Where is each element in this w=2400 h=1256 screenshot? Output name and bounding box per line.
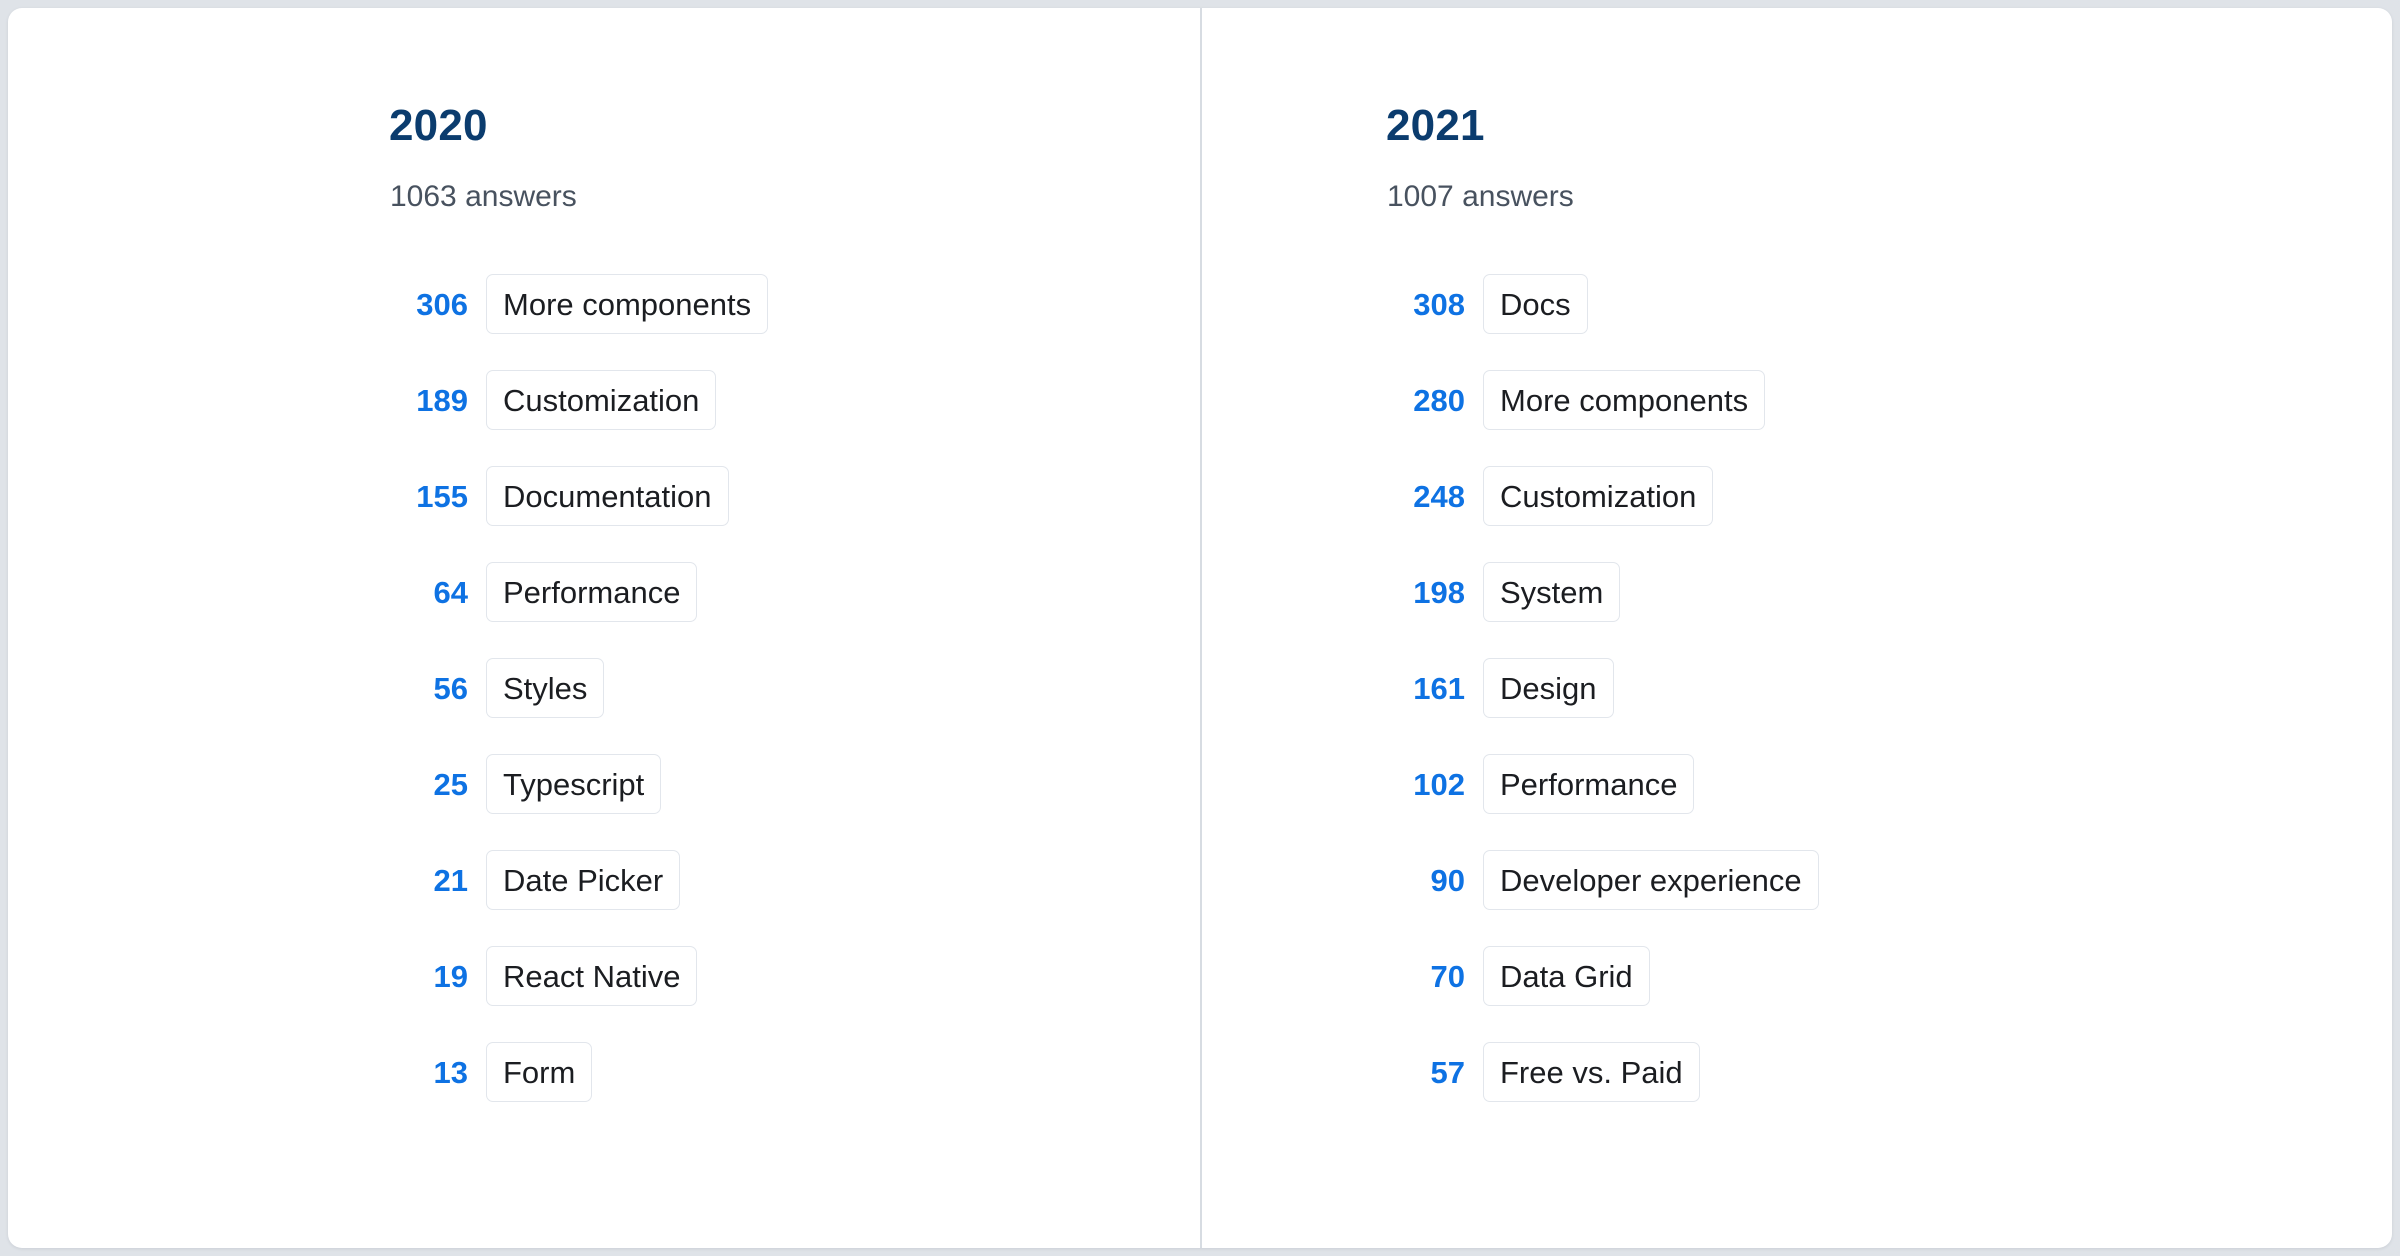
result-count: 306 [390,289,468,320]
result-row[interactable]: 90 Developer experience [1387,832,2392,928]
result-row[interactable]: 155 Documentation [390,448,1200,544]
result-label-tag[interactable]: Typescript [486,754,661,814]
result-count: 189 [390,385,468,416]
result-label-tag[interactable]: Design [1483,658,1614,718]
result-row[interactable]: 70 Data Grid [1387,928,2392,1024]
result-row[interactable]: 21 Date Picker [390,832,1200,928]
result-count: 90 [1387,865,1465,896]
year-heading-2020: 2020 [389,104,1200,148]
year-column-2021: 2021 1007 answers 308 Docs 280 More comp… [1200,8,2392,1248]
result-label-tag[interactable]: Form [486,1042,592,1102]
result-row[interactable]: 13 Form [390,1024,1200,1120]
result-label-tag[interactable]: System [1483,562,1620,622]
result-label-tag[interactable]: Documentation [486,466,729,526]
result-row[interactable]: 57 Free vs. Paid [1387,1024,2392,1120]
result-label-tag[interactable]: React Native [486,946,697,1006]
year-heading-2021: 2021 [1386,104,2392,148]
result-row[interactable]: 198 System [1387,544,2392,640]
result-count: 57 [1387,1057,1465,1088]
result-row[interactable]: 308 Docs [1387,256,2392,352]
year-column-2020: 2020 1063 answers 306 More components 18… [8,8,1200,1248]
result-label-tag[interactable]: Developer experience [1483,850,1819,910]
result-label-tag[interactable]: Free vs. Paid [1483,1042,1700,1102]
result-row[interactable]: 25 Typescript [390,736,1200,832]
result-count: 19 [390,961,468,992]
result-row[interactable]: 189 Customization [390,352,1200,448]
answers-count-2020: 1063 answers [390,182,1200,212]
result-row[interactable]: 161 Design [1387,640,2392,736]
result-count: 25 [390,769,468,800]
results-list-2020: 306 More components 189 Customization 15… [390,256,1200,1120]
survey-comparison-card: 2020 1063 answers 306 More components 18… [8,8,2392,1248]
result-count: 21 [390,865,468,896]
result-count: 56 [390,673,468,704]
result-count: 102 [1387,769,1465,800]
result-count: 161 [1387,673,1465,704]
result-label-tag[interactable]: Date Picker [486,850,680,910]
result-row[interactable]: 56 Styles [390,640,1200,736]
result-label-tag[interactable]: Customization [1483,466,1713,526]
result-row[interactable]: 19 React Native [390,928,1200,1024]
result-label-tag[interactable]: More components [1483,370,1765,430]
result-count: 70 [1387,961,1465,992]
result-row[interactable]: 280 More components [1387,352,2392,448]
result-label-tag[interactable]: Styles [486,658,604,718]
result-label-tag[interactable]: Performance [486,562,697,622]
result-count: 198 [1387,577,1465,608]
result-label-tag[interactable]: More components [486,274,768,334]
result-label-tag[interactable]: Docs [1483,274,1588,334]
results-list-2021: 308 Docs 280 More components 248 Customi… [1387,256,2392,1120]
result-row[interactable]: 306 More components [390,256,1200,352]
result-count: 308 [1387,289,1465,320]
answers-count-2021: 1007 answers [1387,182,2392,212]
result-count: 64 [390,577,468,608]
result-row[interactable]: 64 Performance [390,544,1200,640]
result-count: 280 [1387,385,1465,416]
result-label-tag[interactable]: Performance [1483,754,1694,814]
result-label-tag[interactable]: Customization [486,370,716,430]
result-count: 13 [390,1057,468,1088]
result-count: 155 [390,481,468,512]
result-count: 248 [1387,481,1465,512]
result-row[interactable]: 102 Performance [1387,736,2392,832]
result-row[interactable]: 248 Customization [1387,448,2392,544]
result-label-tag[interactable]: Data Grid [1483,946,1650,1006]
